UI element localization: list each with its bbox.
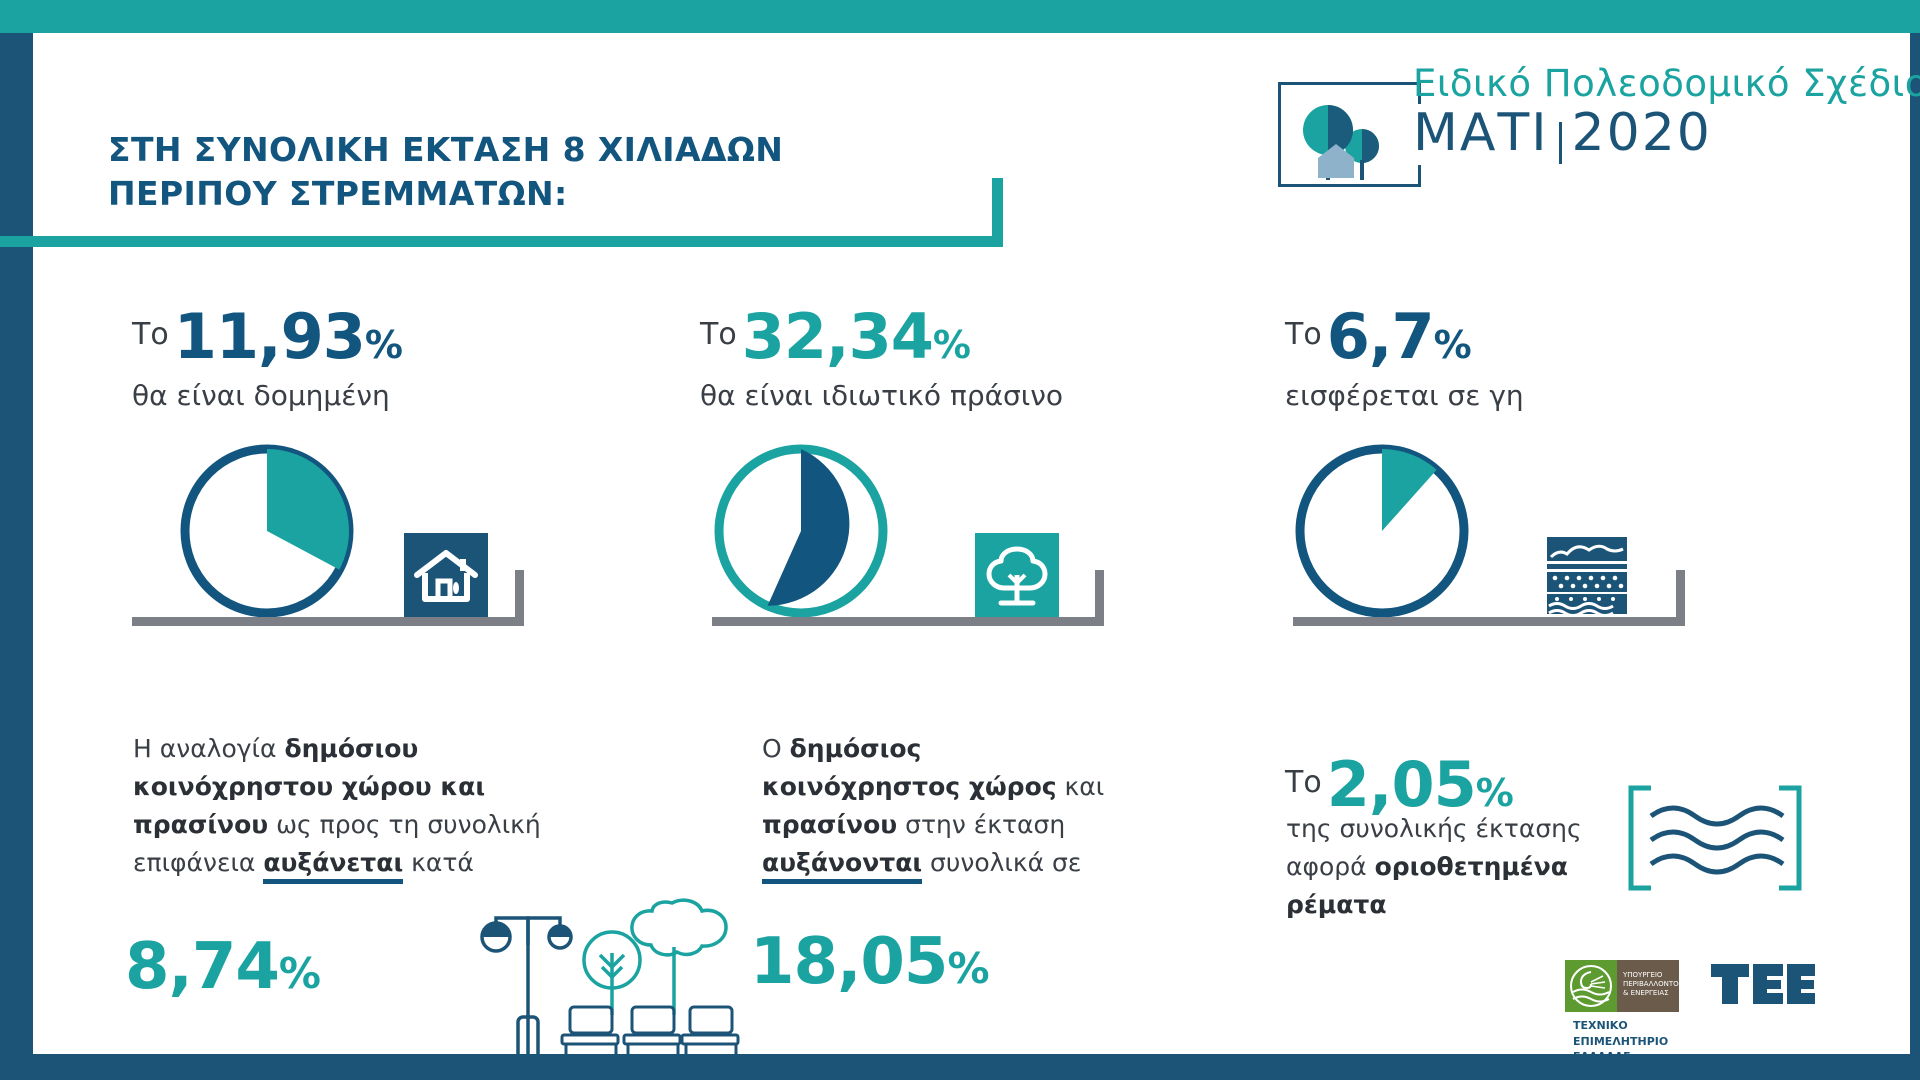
stat-headline: Το 32,34% xyxy=(700,300,1063,373)
logo-divider xyxy=(1559,122,1562,164)
stat-prefix: Το xyxy=(1285,765,1322,800)
bottom-paragraph-public-space-ratio: Η αναλογία δημόσιουκοινόχρηστου χώρου κα… xyxy=(133,730,563,882)
left-accent-bar xyxy=(0,33,33,1080)
stat-headline: Το 6,7% xyxy=(1285,300,1524,373)
small-tree-icon xyxy=(584,932,640,1015)
pie-chart-built xyxy=(178,442,356,624)
pie-chart-land-contribution xyxy=(1293,442,1471,624)
stat-percent-sign: % xyxy=(1434,323,1472,367)
logo-year: 2020 xyxy=(1572,103,1712,163)
stat-value: 6,7 xyxy=(1327,300,1434,373)
bottom-value-number: 18,05 xyxy=(750,925,947,999)
logo-wordmark: Ειδικό Πολεοδομικό Σχέδιο ΜΑΤΙ2020 xyxy=(1413,62,1920,164)
shelf-riser-2 xyxy=(1095,570,1104,626)
stat-block-built: Το 11,93% θα είναι δομημένη xyxy=(132,300,403,412)
ministry-line-2: ΠΕΡΙΒΑΛΛΟΝΤΟΣ xyxy=(1623,980,1679,989)
land-layers-icon xyxy=(1545,533,1629,617)
header-rule-horizontal xyxy=(0,236,1003,247)
right-accent-bar xyxy=(1910,33,1920,1080)
page-title-line-1: ΣΤΗ ΣΥΝΟΛΙΚΗ ΕΚΤΑΣΗ 8 ΧΙΛΙΑΔΩΝ xyxy=(108,128,968,172)
stat-percent-sign: % xyxy=(365,323,403,367)
stat-block-private-green: Το 32,34% θα είναι ιδιωτικό πράσινο xyxy=(700,300,1063,412)
bottom-value-number: 8,74 xyxy=(125,930,279,1004)
tee-logo-mark xyxy=(1709,960,1817,1012)
stat-headline: Το 11,93% xyxy=(132,300,403,373)
ministry-emblem-icon xyxy=(1565,960,1617,1012)
large-tree-icon xyxy=(632,900,726,1015)
bottom-value-public-space-total: 18,05% xyxy=(750,925,989,999)
tee-wordmark: ΤΕΧΝΙΚΟ ΕΠΙΜΕΛΗΤΗΡΙΟ ΕΛΛΑΔΑΣ xyxy=(1573,1012,1668,1065)
street-lamp-icon xyxy=(482,918,571,1059)
bench-icon xyxy=(682,1007,738,1057)
bottom-value-percent: % xyxy=(947,944,988,993)
waves-bracket-icon xyxy=(1625,782,1805,898)
tree-icon xyxy=(975,533,1059,617)
page-title: ΣΤΗ ΣΥΝΟΛΙΚΗ ΕΚΤΑΣΗ 8 ΧΙΛΙΑΔΩΝ ΠΕΡΙΠΟΥ Σ… xyxy=(108,128,968,215)
logo-name-year: ΜΑΤΙ2020 xyxy=(1413,103,1920,164)
bottom-value-percent: % xyxy=(279,949,320,998)
bottom-paragraph-delimited-streams: της συνολικής έκτασηςαφορά οριοθετημέναρ… xyxy=(1286,810,1616,924)
house-icon xyxy=(404,533,488,617)
stat-caption: θα είναι ιδιωτικό πράσινο xyxy=(700,379,1063,412)
footer-logos: ΥΠΟΥΡΓΕΙΟ ΠΕΡΙΒΑΛΛΟΝΤΟΣ & ΕΝΕΡΓΕΙΑΣ ΤΕΧΝ… xyxy=(1565,960,1920,1065)
shelf-line-3 xyxy=(1293,617,1685,626)
stat-percent-sign: % xyxy=(1476,771,1514,815)
pie-chart-private-green xyxy=(712,442,890,624)
top-accent-bar xyxy=(0,0,1920,33)
tee-line-3: ΕΛΛΑΔΑΣ xyxy=(1573,1049,1668,1065)
stat-prefix: Το xyxy=(700,317,737,352)
bottom-value-public-space-ratio: 8,74% xyxy=(125,930,320,1004)
streetscape-illustration xyxy=(450,885,760,1084)
bottom-paragraph-public-space-total: Ο δημόσιοςκοινόχρηστος χώρος καιπρασίνου… xyxy=(762,730,1192,882)
ministry-logo: ΥΠΟΥΡΓΕΙΟ ΠΕΡΙΒΑΛΛΟΝΤΟΣ & ΕΝΕΡΓΕΙΑΣ xyxy=(1565,960,1679,1012)
shelf-riser-3 xyxy=(1676,570,1685,626)
logo-name: ΜΑΤΙ xyxy=(1413,103,1549,163)
logo-trees-house-icon xyxy=(1298,100,1394,186)
stat-value: 11,93 xyxy=(174,300,365,373)
bench-icon xyxy=(624,1007,680,1057)
stat-value: 32,34 xyxy=(742,300,933,373)
bench-icon xyxy=(562,1007,618,1057)
ministry-line-3: & ΕΝΕΡΓΕΙΑΣ xyxy=(1623,989,1679,998)
stat-percent-sign: % xyxy=(933,323,971,367)
stat-caption: θα είναι δομημένη xyxy=(132,379,403,412)
stat-prefix: Το xyxy=(1285,317,1322,352)
shelf-line-2 xyxy=(712,617,1104,626)
stat-prefix: Το xyxy=(132,317,169,352)
ministry-wordmark: ΥΠΟΥΡΓΕΙΟ ΠΕΡΙΒΑΛΛΟΝΤΟΣ & ΕΝΕΡΓΕΙΑΣ xyxy=(1617,960,1679,1012)
stat-caption: εισφέρεται σε γη xyxy=(1285,379,1524,412)
tee-line-2: ΕΠΙΜΕΛΗΤΗΡΙΟ xyxy=(1573,1034,1668,1050)
shelf-riser-1 xyxy=(515,570,524,626)
project-logo: Ειδικό Πολεοδομικό Σχέδιο ΜΑΤΙ2020 xyxy=(1278,62,1858,187)
shelf-line-1 xyxy=(132,617,524,626)
logo-tagline: Ειδικό Πολεοδομικό Σχέδιο xyxy=(1413,62,1920,105)
tee-line-1: ΤΕΧΝΙΚΟ xyxy=(1573,1018,1668,1034)
stat-block-land-contribution: Το 6,7% εισφέρεται σε γη xyxy=(1285,300,1524,412)
ministry-line-1: ΥΠΟΥΡΓΕΙΟ xyxy=(1623,971,1679,980)
header-rule-vertical xyxy=(992,178,1003,247)
page-title-line-2: ΠΕΡΙΠΟΥ ΣΤΡΕΜΜΑΤΩΝ: xyxy=(108,172,968,216)
